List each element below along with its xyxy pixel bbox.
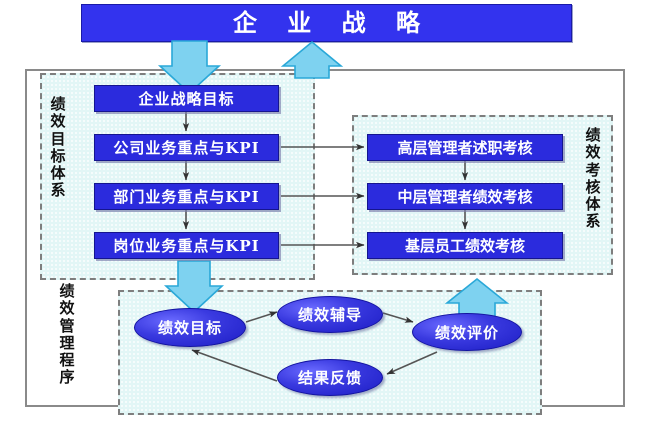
- vchar: 绩: [48, 96, 68, 113]
- node-label: 绩效目标: [158, 317, 222, 338]
- box-label: 基层员工绩效考核: [405, 235, 525, 256]
- box-department-kpi[interactable]: 部门业务重点与KPI: [94, 183, 279, 210]
- box-label: 高层管理者述职考核: [397, 137, 532, 158]
- diagram-canvas: 企 业 战 略 绩 效 目 标 体 系 绩 效 考 核 体 系 绩 效 管 理 …: [0, 0, 650, 429]
- box-label: 部门业务重点与KPI: [113, 186, 259, 207]
- node-performance-coaching[interactable]: 绩效辅导: [277, 296, 383, 333]
- box-senior-manager-review[interactable]: 高层管理者述职考核: [367, 134, 563, 161]
- strategy-banner: 企 业 战 略: [81, 4, 572, 42]
- box-label: 企业战略目标: [138, 88, 234, 109]
- label-goal-system: 绩 效 目 标 体 系: [48, 96, 68, 200]
- node-label: 结果反馈: [298, 367, 362, 388]
- node-label: 绩效评价: [435, 322, 499, 343]
- vchar: 效: [583, 144, 603, 161]
- box-company-kpi[interactable]: 公司业务重点与KPI: [94, 134, 279, 161]
- vchar: 体: [583, 196, 603, 213]
- vchar: 标: [48, 148, 68, 165]
- vchar: 序: [57, 369, 77, 386]
- node-label: 绩效辅导: [298, 304, 362, 325]
- vchar: 理: [57, 335, 77, 352]
- box-middle-manager-review[interactable]: 中层管理者绩效考核: [367, 183, 563, 210]
- vchar: 绩: [583, 127, 603, 144]
- node-result-feedback[interactable]: 结果反馈: [277, 359, 383, 396]
- box-label: 岗位业务重点与KPI: [113, 235, 259, 256]
- node-performance-evaluation[interactable]: 绩效评价: [412, 313, 522, 351]
- box-position-kpi[interactable]: 岗位业务重点与KPI: [94, 232, 279, 259]
- vchar: 效: [48, 113, 68, 130]
- vchar: 管: [57, 318, 77, 335]
- vchar: 系: [48, 182, 68, 199]
- strategy-banner-label: 企 业 战 略: [222, 11, 431, 35]
- vchar: 体: [48, 165, 68, 182]
- label-management-process: 绩 效 管 理 程 序: [57, 283, 77, 387]
- vchar: 考: [583, 162, 603, 179]
- vchar: 系: [583, 213, 603, 230]
- vchar: 目: [48, 131, 68, 148]
- label-assessment-system: 绩 效 考 核 体 系: [583, 127, 603, 231]
- vchar: 程: [57, 352, 77, 369]
- box-label: 公司业务重点与KPI: [113, 137, 259, 158]
- box-label: 中层管理者绩效考核: [397, 186, 532, 207]
- box-enterprise-strategy-goal[interactable]: 企业战略目标: [94, 85, 279, 112]
- box-staff-review[interactable]: 基层员工绩效考核: [367, 232, 563, 259]
- vchar: 绩: [57, 283, 77, 300]
- vchar: 效: [57, 300, 77, 317]
- vchar: 核: [583, 179, 603, 196]
- node-performance-goal[interactable]: 绩效目标: [134, 308, 246, 347]
